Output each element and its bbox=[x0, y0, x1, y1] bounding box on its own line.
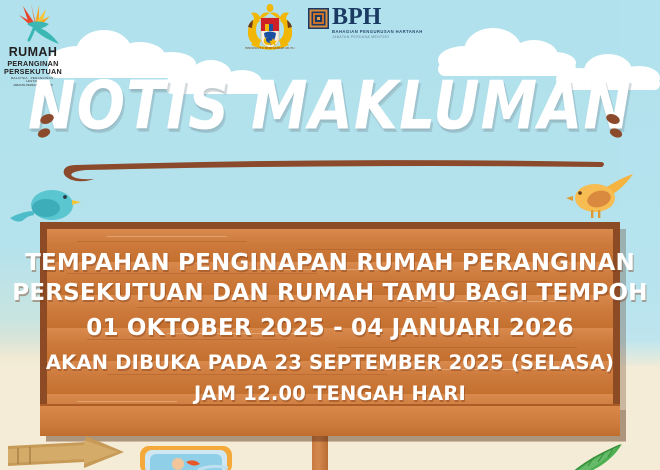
logo-bph-group: BERSEKUTU BERTAMBAH MUTU BPH BAHAGIAN PE… bbox=[240, 4, 440, 54]
green-palm-leaf-icon bbox=[566, 436, 646, 470]
signboard: TEMPAHAN PENGINAPAN RUMAH PERANGINAN PER… bbox=[40, 222, 620, 434]
logo-rpp-line2: PERANGINAN bbox=[4, 60, 62, 67]
bph-subtitle-1: BAHAGIAN PENGURUSAN HARTANAH bbox=[332, 30, 423, 34]
logo-rpp-line1: RUMAH bbox=[4, 46, 62, 59]
brush-dash-ornament-icon bbox=[604, 112, 626, 142]
brush-dash-ornament-icon bbox=[34, 112, 56, 142]
bph-subtitle-2: JABATAN PERDANA MENTERI bbox=[332, 36, 423, 39]
board-line-4: AKAN DIBUKA PADA 23 SEPTEMBER 2025 (SELA… bbox=[46, 350, 614, 375]
jata-negara-malaysia-crest-icon: BERSEKUTU BERTAMBAH MUTU bbox=[240, 4, 300, 50]
board-line-1: TEMPAHAN PENGINAPAN RUMAH PERANGINAN bbox=[25, 249, 635, 279]
bph-square-spiral-icon bbox=[308, 8, 329, 29]
wooden-arrow-sign-icon bbox=[8, 436, 126, 470]
sign-post bbox=[312, 430, 328, 470]
bph-wordmark: BPH BAHAGIAN PENGURUSAN HARTANAH JABATAN… bbox=[332, 8, 423, 39]
bph-lockup: BPH BAHAGIAN PENGURUSAN HARTANAH JABATAN… bbox=[308, 4, 423, 39]
board-line-5: JAM 12.00 TENGAH HARI bbox=[194, 381, 466, 406]
page-title: NOTIS MAKLUMAN bbox=[28, 73, 632, 140]
board-line-3: 01 OKTOBER 2025 - 04 JANUARI 2026 bbox=[86, 314, 573, 344]
pool-illustration-icon bbox=[138, 442, 246, 470]
page-title-wrap: NOTIS MAKLUMAN bbox=[0, 78, 660, 135]
bird-of-paradise-flower-icon bbox=[5, 2, 61, 46]
brush-stroke-underline-icon bbox=[46, 158, 614, 184]
bph-acronym: BPH bbox=[332, 5, 423, 29]
board-line-2: PERSEKUTUAN DAN RUMAH TAMU BAGI TEMPOH bbox=[12, 279, 647, 309]
orange-bird-icon bbox=[565, 172, 635, 228]
poster-canvas: RUMAH PERANGINAN PERSEKUTUAN MALAYSIA . … bbox=[0, 0, 660, 470]
lower-signboard bbox=[40, 404, 620, 436]
signboard-text: TEMPAHAN PENGINAPAN RUMAH PERANGINAN PER… bbox=[47, 229, 613, 427]
svg-text:BERSEKUTU BERTAMBAH MUTU: BERSEKUTU BERTAMBAH MUTU bbox=[245, 46, 295, 50]
